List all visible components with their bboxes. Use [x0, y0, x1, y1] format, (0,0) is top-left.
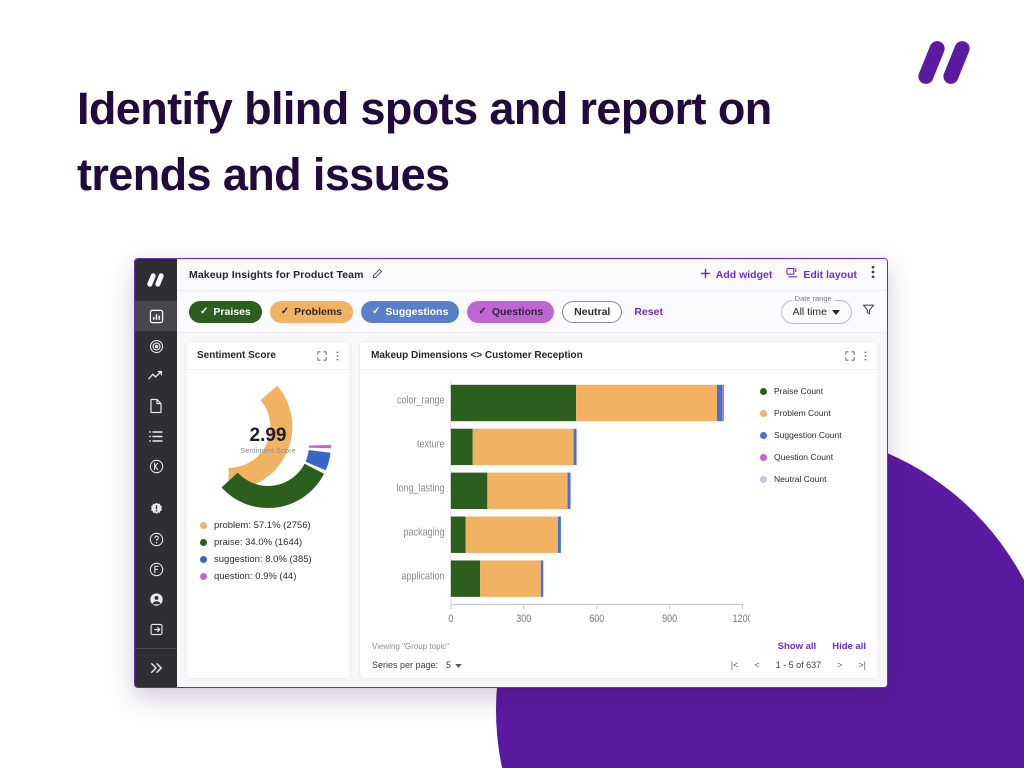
bars-card-header: Makeup Dimensions <> Customer Reception: [360, 342, 878, 370]
app-window: Makeup Insights for Product Team: [134, 258, 888, 688]
x-tick-900: 900: [662, 613, 677, 625]
bars-footer-top: Viewing "Group topic" Show all Hide all: [372, 641, 866, 652]
sidebar-logo-icon[interactable]: [141, 269, 171, 293]
bars-legend-item[interactable]: Suggestion Count: [760, 430, 868, 440]
check-icon: ✓: [478, 307, 486, 317]
legend-item[interactable]: question: 0.9% (44): [200, 571, 338, 582]
date-range-label: Date range: [792, 294, 835, 303]
bars-legend-label: Praise Count: [774, 386, 823, 396]
bar-chart-icon: [149, 309, 164, 324]
y-tick-long_lasting: long_lasting: [396, 483, 444, 495]
plus-icon: [700, 268, 711, 282]
reset-filters-button[interactable]: Reset: [634, 306, 663, 318]
brand-logo: [918, 40, 978, 84]
fullscreen-icon[interactable]: [317, 351, 327, 361]
sidebar-item-dashboards[interactable]: [135, 301, 177, 331]
y-tick-color_range: color_range: [397, 395, 445, 407]
trend-line-icon: [148, 369, 164, 383]
bars-legend-label: Question Count: [774, 452, 833, 462]
sentiment-card-header: Sentiment Score: [186, 342, 350, 370]
donut-slice-suggestion: [316, 451, 320, 466]
legend-dot-suggestion-count: [760, 432, 767, 439]
series-per-page: Series per page: 5: [372, 660, 462, 670]
sidebar-item-account[interactable]: [135, 584, 177, 614]
filter-chip-questions[interactable]: ✓ Questions: [467, 301, 554, 323]
kebab-menu-icon: [871, 265, 875, 284]
y-tick-texture: texture: [417, 439, 445, 451]
add-widget-label: Add widget: [716, 269, 773, 281]
sentiment-card-actions: [317, 350, 339, 362]
logout-icon: [149, 622, 164, 637]
donut-center-caption: Sentiment Score: [240, 446, 295, 455]
filter-chip-label: Problems: [294, 306, 342, 318]
bars-legend: Praise Count Problem Count Suggestion Co…: [750, 376, 868, 637]
bars-legend-item[interactable]: Question Count: [760, 452, 868, 462]
x-tick-1200: 1200: [733, 613, 750, 625]
sentiment-score-card: Sentiment Score: [185, 341, 351, 679]
legend-label: praise: 34.0% (1644): [214, 537, 302, 548]
show-all-button[interactable]: Show all: [778, 641, 817, 652]
x-tick-600: 600: [589, 613, 604, 625]
bars-chart-body: 0 300 600 900 1200 color_range texture: [360, 370, 878, 637]
legend-dot-problem-count: [760, 410, 767, 417]
bars-card-title: Makeup Dimensions <> Customer Reception: [371, 350, 583, 361]
filter-chip-neutral[interactable]: Neutral: [562, 301, 622, 323]
sidebar-item-knowledge[interactable]: [135, 451, 177, 481]
dashboard-titlebar: Makeup Insights for Product Team: [177, 259, 887, 291]
x-tick-0: 0: [448, 613, 453, 625]
dashboard-title: Makeup Insights for Product Team: [189, 269, 364, 281]
filter-bar-right: Date range All time: [781, 300, 875, 324]
first-page-button[interactable]: |<: [731, 660, 739, 670]
legend-dot-suggestion: [200, 556, 207, 563]
legend-item[interactable]: problem: 57.1% (2756): [200, 520, 338, 531]
list-icon: [148, 430, 164, 443]
sidebar-item-goals[interactable]: [135, 331, 177, 361]
sidebar-item-help[interactable]: [135, 524, 177, 554]
series-per-page-select[interactable]: 5: [446, 660, 462, 670]
check-icon: ✓: [281, 307, 289, 317]
help-circle-icon: [149, 532, 164, 547]
makeup-dimensions-card: Makeup Dimensions <> Customer Reception: [359, 341, 879, 679]
legend-dot-praise-count: [760, 388, 767, 395]
circled-k-icon: [149, 459, 164, 474]
alert-badge-icon: [149, 502, 164, 517]
filter-chip-label: Questions: [492, 306, 543, 318]
legend-label: problem: 57.1% (2756): [214, 520, 311, 531]
bar-group-application[interactable]: [451, 560, 543, 596]
chevron-double-right-icon: [149, 661, 164, 675]
filter-chip-label: Praises: [213, 306, 250, 318]
date-range-value: All time: [793, 306, 827, 318]
page-title: Identify blind spots and report on trend…: [77, 76, 877, 207]
check-icon: ✓: [372, 307, 380, 317]
legend-dot-problem: [200, 522, 207, 529]
bars-legend-item[interactable]: Praise Count: [760, 386, 868, 396]
pagination: |< < 1 - 5 of 637 > >|: [731, 660, 866, 670]
sentiment-legend: problem: 57.1% (2756) praise: 34.0% (164…: [186, 512, 350, 582]
sidebar-bottom-group: [135, 494, 177, 687]
sidebar-item-lists[interactable]: [135, 421, 177, 451]
filter-bar: ✓ Praises ✓ Problems ✓ Suggestions ✓ Que…: [177, 291, 887, 333]
bars-legend-label: Problem Count: [774, 408, 831, 418]
series-per-page-value: 5: [446, 660, 451, 670]
sidebar-divider: [135, 648, 177, 649]
x-tick-300: 300: [516, 613, 531, 625]
prev-page-button[interactable]: <: [754, 660, 759, 670]
bars-footer-links: Show all Hide all: [778, 641, 866, 652]
user-avatar-icon: [149, 592, 164, 607]
sidebar: [135, 259, 177, 687]
legend-item[interactable]: suggestion: 8.0% (385): [200, 554, 338, 565]
circled-f-icon: [149, 562, 164, 577]
filter-chip-problems[interactable]: ✓ Problems: [270, 301, 353, 323]
sidebar-item-trends[interactable]: [135, 361, 177, 391]
viewing-label: Viewing "Group topic": [372, 642, 449, 651]
sentiment-card-title: Sentiment Score: [197, 350, 276, 361]
bars-plot: 0 300 600 900 1200 color_range texture: [366, 376, 750, 637]
bars-svg: 0 300 600 900 1200 color_range texture: [366, 376, 750, 637]
legend-dot-neutral-count: [760, 476, 767, 483]
filter-chip-praises[interactable]: ✓ Praises: [189, 301, 262, 323]
kebab-menu-icon[interactable]: [336, 350, 339, 362]
check-icon: ✓: [200, 307, 208, 317]
y-tick-packaging: packaging: [403, 527, 444, 539]
dashboard-more-button[interactable]: [871, 265, 875, 284]
app-main: Makeup Insights for Product Team: [177, 259, 887, 687]
bar-group-packaging[interactable]: [451, 517, 561, 553]
sentiment-donut-chart: 2.99 Sentiment Score: [186, 370, 350, 512]
legend-item[interactable]: praise: 34.0% (1644): [200, 537, 338, 548]
bars-legend-label: Neutral Count: [774, 474, 826, 484]
fullscreen-icon[interactable]: [845, 351, 855, 361]
legend-dot-question-count: [760, 454, 767, 461]
kebab-menu-icon[interactable]: [864, 350, 867, 362]
widgets-row: Sentiment Score: [177, 333, 887, 687]
legend-dot-praise: [200, 539, 207, 546]
add-widget-button[interactable]: Add widget: [700, 268, 773, 282]
screenshot-root: Identify blind spots and report on trend…: [0, 0, 1024, 768]
y-tick-application: application: [401, 571, 444, 583]
document-icon: [149, 398, 163, 414]
titlebar-actions: Add widget Edit layout: [700, 265, 875, 284]
edit-title-button[interactable]: [372, 266, 383, 284]
last-page-button[interactable]: >|: [858, 660, 866, 670]
bars-card-footer: Viewing "Group topic" Show all Hide all …: [360, 637, 878, 678]
bars-legend-item[interactable]: Neutral Count: [760, 474, 868, 484]
donut-svg: 2.99 Sentiment Score: [201, 378, 335, 512]
bar-group-long_lasting[interactable]: [451, 473, 571, 509]
page-range-label: 1 - 5 of 637: [776, 660, 822, 670]
layout-icon: [786, 267, 798, 282]
sidebar-item-notifications[interactable]: [135, 494, 177, 524]
bar-group-color_range[interactable]: [451, 385, 724, 421]
target-icon: [149, 339, 164, 354]
series-per-page-label: Series per page:: [372, 660, 438, 670]
next-page-button[interactable]: >: [837, 660, 842, 670]
sidebar-expand-button[interactable]: [135, 653, 177, 683]
legend-label: question: 0.9% (44): [214, 571, 296, 582]
sidebar-item-logout[interactable]: [135, 614, 177, 644]
legend-dot-question: [200, 573, 207, 580]
bars-legend-item[interactable]: Problem Count: [760, 408, 868, 418]
filter-chip-label: Neutral: [574, 306, 610, 318]
date-range-select[interactable]: Date range All time: [781, 300, 852, 324]
hide-all-button[interactable]: Hide all: [832, 641, 866, 652]
donut-center-value: 2.99: [250, 425, 287, 446]
bar-group-texture[interactable]: [451, 429, 577, 465]
filter-chip-label: Suggestions: [385, 306, 448, 318]
edit-layout-label: Edit layout: [803, 269, 857, 281]
filter-chip-suggestions[interactable]: ✓ Suggestions: [361, 301, 459, 323]
chevron-down-icon: [455, 660, 462, 670]
bars-legend-label: Suggestion Count: [774, 430, 842, 440]
sidebar-item-documents[interactable]: [135, 391, 177, 421]
filter-button[interactable]: [862, 303, 875, 321]
bars-card-actions: [845, 350, 867, 362]
sidebar-item-feedback[interactable]: [135, 554, 177, 584]
chevron-down-icon: [832, 306, 840, 318]
legend-label: suggestion: 8.0% (385): [214, 554, 312, 565]
bars-footer-bottom: Series per page: 5 |< <: [372, 660, 866, 670]
funnel-icon: [862, 303, 875, 321]
edit-layout-button[interactable]: Edit layout: [786, 267, 857, 282]
pencil-icon: [372, 266, 383, 284]
